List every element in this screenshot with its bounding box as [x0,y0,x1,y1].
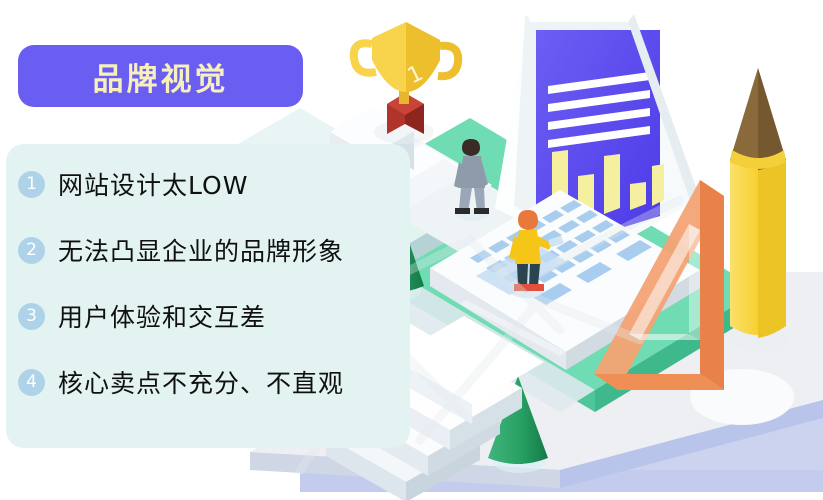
title-badge: 品牌视觉 [18,45,303,107]
pencil-icon [728,68,788,350]
list-item-number: 2 [18,237,45,264]
list-item-label: 无法凸显企业的品牌形象 [58,232,344,268]
list-item: 3 用户体验和交互差 [18,298,410,334]
list-item-label: 核心卖点不充分、不直观 [58,364,344,400]
list-item-number: 4 [18,369,45,396]
list-item-number: 1 [18,171,45,198]
issues-list: 1 网站设计太LOW 2 无法凸显企业的品牌形象 3 用户体验和交互差 4 核心… [18,166,410,430]
title-badge-label: 品牌视觉 [93,54,229,99]
poster-canvas: 1 [0,0,823,500]
list-item: 1 网站设计太LOW [18,166,410,202]
list-item: 2 无法凸显企业的品牌形象 [18,232,410,268]
list-item-label: 网站设计太LOW [58,166,248,202]
list-item: 4 核心卖点不充分、不直观 [18,364,410,400]
list-item-number: 3 [18,303,45,330]
list-item-label: 用户体验和交互差 [58,298,266,334]
